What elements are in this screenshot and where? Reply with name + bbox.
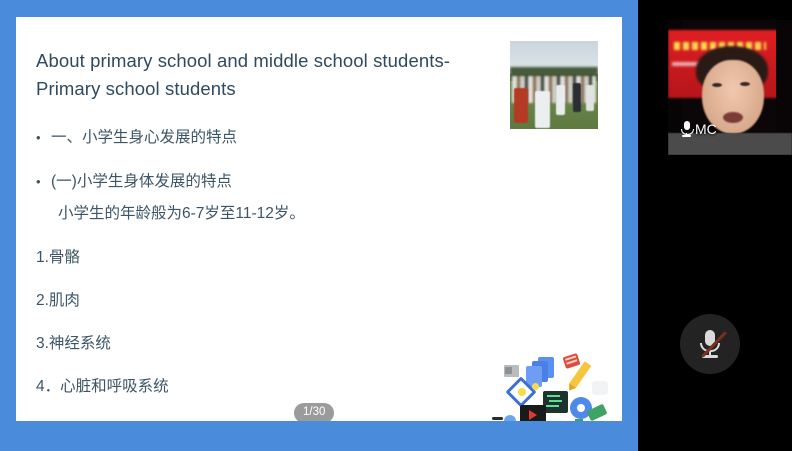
photo-person xyxy=(556,85,565,115)
list-item: • (一)小学生身体发展的特点 xyxy=(36,169,496,191)
sparkle-icon xyxy=(518,388,526,396)
slide-body-list: • 一、小学生身心发展的特点 • (一)小学生身体发展的特点 小学生的年龄般为6… xyxy=(36,125,496,396)
list-item-label: (一)小学生身体发展的特点 xyxy=(51,169,232,191)
meeting-screen: About primary school and middle school s… xyxy=(0,0,792,451)
photo-person xyxy=(586,85,594,111)
bullet-marker: • xyxy=(36,130,51,145)
shared-screen-area[interactable]: About primary school and middle school s… xyxy=(0,0,638,451)
dash-icon xyxy=(492,417,503,420)
participant-name-badge: MC xyxy=(680,121,717,137)
circle-icon xyxy=(504,415,516,421)
participant-eye xyxy=(712,83,722,87)
book-icon xyxy=(563,353,581,369)
mute-toggle-button[interactable] xyxy=(680,314,740,374)
microphone-icon xyxy=(680,121,693,137)
photo-person xyxy=(573,83,581,112)
decorative-illustration xyxy=(492,353,622,421)
participant-name-label: MC xyxy=(695,121,717,137)
slide-counter-badge: 1/30 xyxy=(294,403,334,421)
list-item: 3.神经系统 xyxy=(36,331,496,353)
sparkle-icon xyxy=(532,383,539,390)
photo-person xyxy=(514,88,529,123)
list-item: 4．心脏和呼吸系统 xyxy=(36,374,496,396)
folder-icon xyxy=(504,365,519,377)
bullet-marker: • xyxy=(36,174,51,189)
list-item: 1.骨骼 xyxy=(36,245,496,267)
microphone-base xyxy=(682,135,691,137)
folder-tab-icon xyxy=(575,419,583,421)
video-player-icon xyxy=(520,405,546,421)
photo-person xyxy=(535,91,550,128)
participant-eye xyxy=(740,82,750,86)
microphone-muted-icon xyxy=(699,330,721,358)
participant-mouth xyxy=(723,112,743,123)
presentation-slide[interactable]: About primary school and middle school s… xyxy=(16,17,622,421)
participants-panel: MC xyxy=(638,0,792,451)
list-item-label: 一、小学生身心发展的特点 xyxy=(51,125,237,147)
code-window-icon xyxy=(543,391,568,413)
slide-title: About primary school and middle school s… xyxy=(36,47,476,103)
paper-shape-icon xyxy=(592,381,608,395)
list-item: 2.肌肉 xyxy=(36,288,496,310)
participant-video-tile[interactable]: MC xyxy=(668,20,792,155)
list-item-sub: 小学生的年龄般为6-7岁至11-12岁。 xyxy=(58,201,496,223)
students-on-field-photo xyxy=(510,41,598,129)
list-item: • 一、小学生身心发展的特点 xyxy=(36,125,496,147)
